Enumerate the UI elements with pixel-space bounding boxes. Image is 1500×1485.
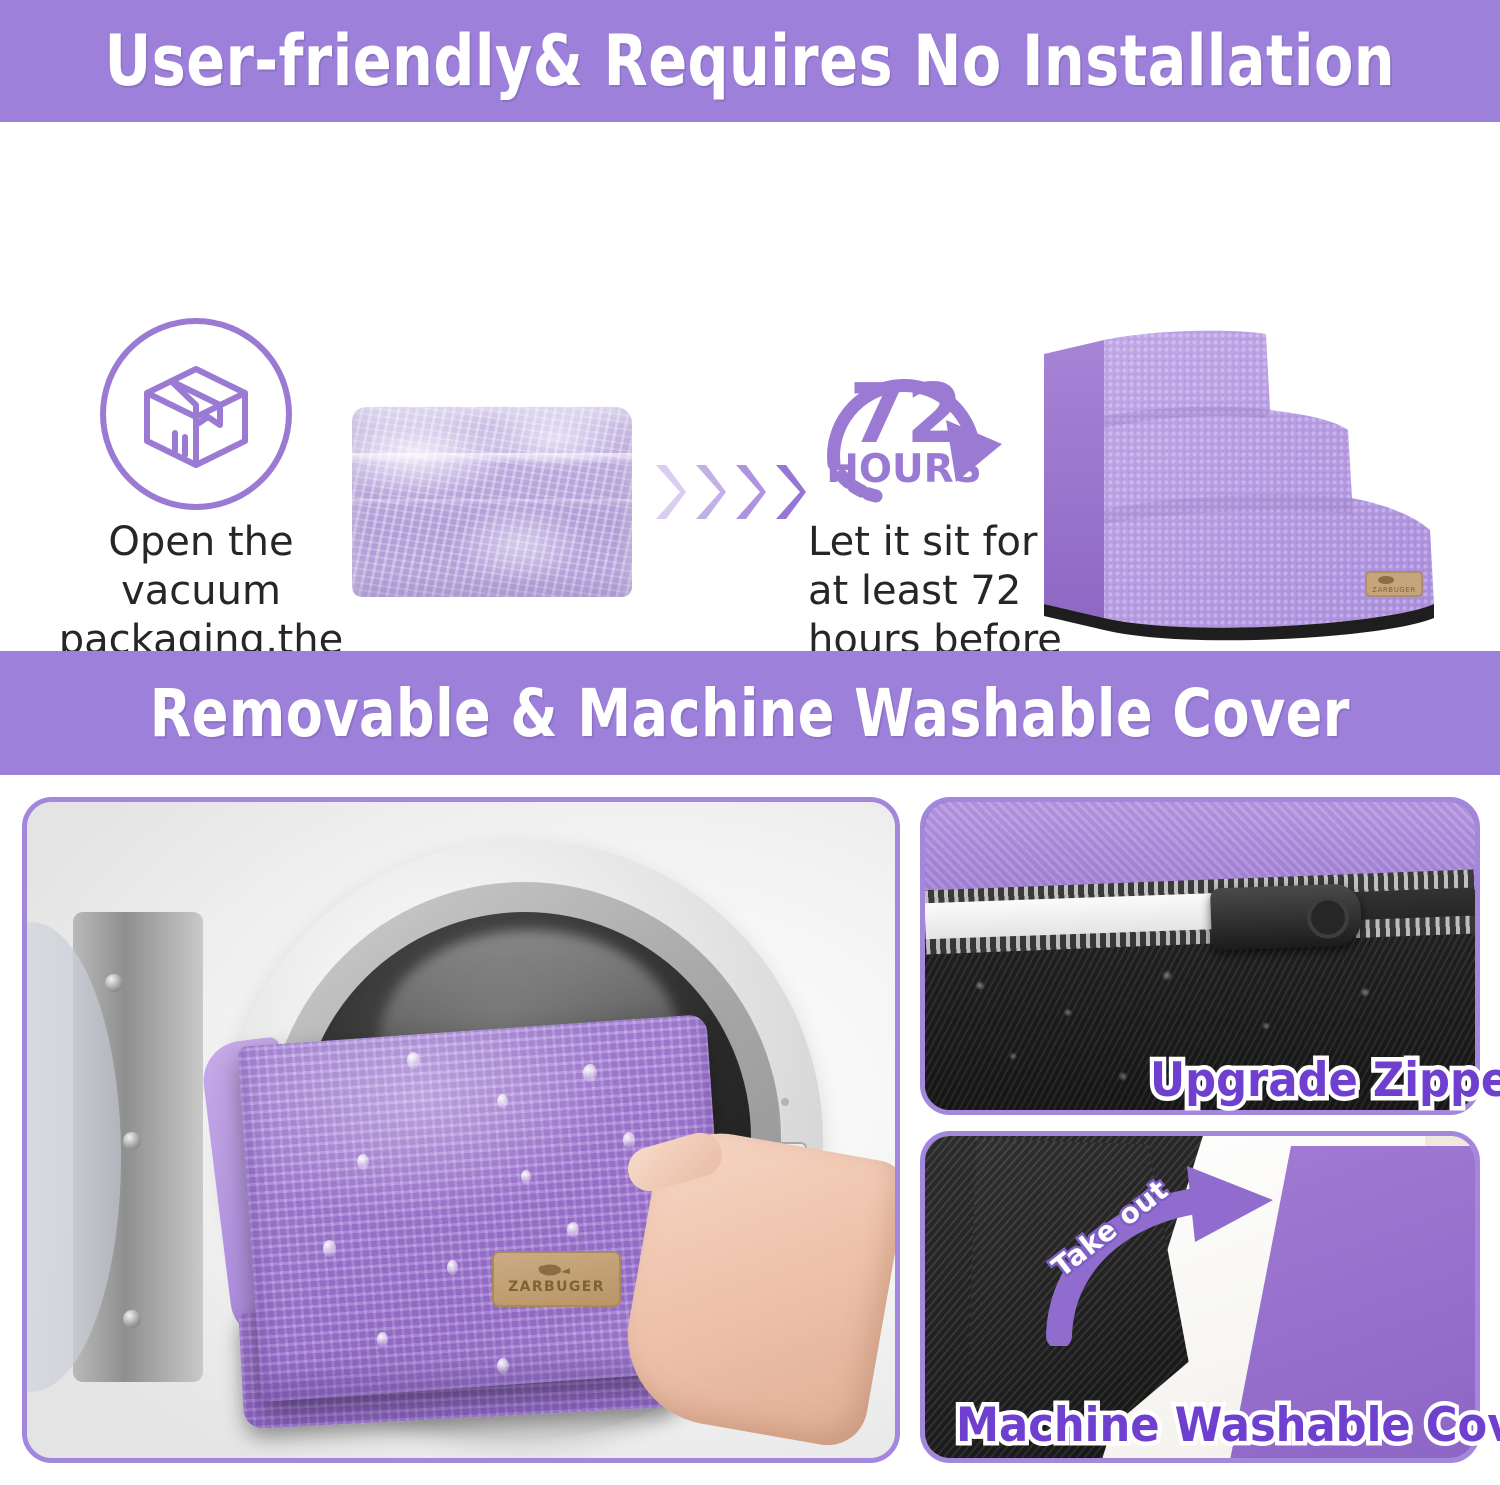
infographic-root: User-friendly& Requires No Installation bbox=[0, 0, 1500, 1485]
bottom-section: ZARBUGER bbox=[0, 775, 1500, 1485]
banner-top: User-friendly& Requires No Installation bbox=[0, 0, 1500, 122]
seventy-two-hours-icon: 72 HOURS bbox=[806, 344, 1026, 514]
banner-middle-text: Removable & Machine Washable Cover bbox=[150, 675, 1350, 752]
upgrade-zipper-label: Upgrade Zipper bbox=[1150, 1053, 1500, 1108]
banner-top-text: User-friendly& Requires No Installation bbox=[105, 20, 1395, 102]
svg-text:ZARBUGER: ZARBUGER bbox=[1372, 586, 1416, 594]
chevron-arrows bbox=[652, 458, 812, 526]
package-box-icon bbox=[100, 318, 292, 510]
brand-name: ZARBUGER bbox=[508, 1279, 605, 1295]
pet-stair-ramp: ZARBUGER bbox=[1030, 318, 1482, 648]
vacuum-packed-bundle bbox=[352, 407, 632, 597]
dog-logo-icon bbox=[534, 1263, 580, 1279]
banner-middle: Removable & Machine Washable Cover bbox=[0, 651, 1500, 775]
take-out-arrow-icon bbox=[1037, 1166, 1297, 1346]
washing-machine-photo bbox=[22, 797, 900, 1463]
machine-washable-cover-label: Machine Washable Cover bbox=[956, 1398, 1500, 1453]
hours-unit: HOURS bbox=[826, 447, 982, 492]
zipper-slider bbox=[1210, 883, 1362, 950]
brand-tag: ZARBUGER bbox=[492, 1251, 621, 1307]
top-section: 72 HOURS bbox=[0, 122, 1500, 651]
ramp-brand-tag: ZARBUGER bbox=[1366, 572, 1422, 596]
